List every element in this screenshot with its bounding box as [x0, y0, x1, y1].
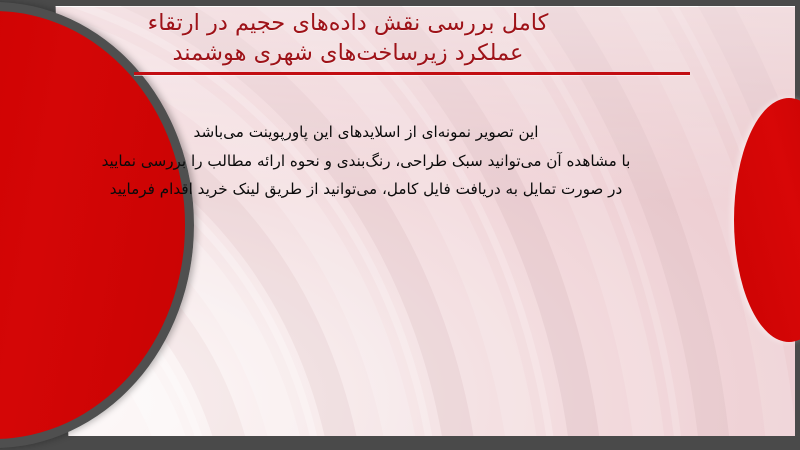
- slide: کامل بررسی نقش داده‌های حجیم در ارتقاء ع…: [0, 0, 800, 450]
- slide-title-line-2: عملکرد زیرساخت‌های شهری هوشمند: [0, 38, 696, 68]
- slide-text-layer: کامل بررسی نقش داده‌های حجیم در ارتقاء ع…: [0, 0, 800, 450]
- slide-title: کامل بررسی نقش داده‌های حجیم در ارتقاء ع…: [0, 8, 696, 68]
- slide-body-line-3: در صورت تمایل به دریافت فایل کامل، می‌تو…: [0, 175, 732, 204]
- slide-body-text: این تصویر نمونه‌ای از اسلایدهای این پاور…: [0, 118, 732, 204]
- slide-body-line-1: این تصویر نمونه‌ای از اسلایدهای این پاور…: [0, 118, 732, 147]
- title-underline-rule: [134, 72, 690, 75]
- slide-body-line-2: با مشاهده آن می‌توانید سبک طراحی، رنگ‌بن…: [0, 147, 732, 176]
- slide-title-line-1: کامل بررسی نقش داده‌های حجیم در ارتقاء: [0, 8, 696, 38]
